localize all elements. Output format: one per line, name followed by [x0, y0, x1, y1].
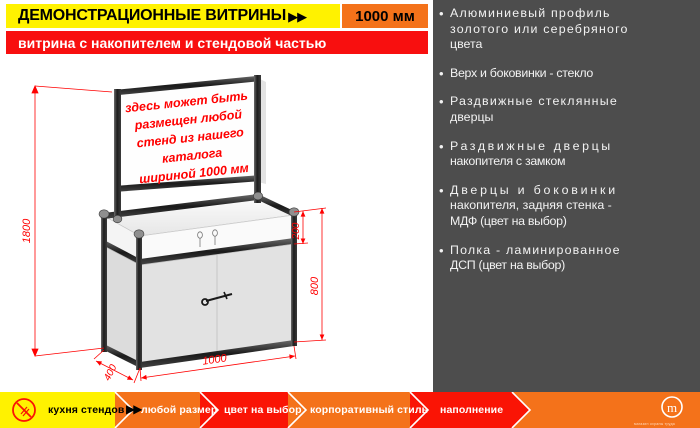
slide-root: ДЕМОНСТРАЦИОННЫЕ ВИТРИНЫ ▶▶ 1000 мм витр… [0, 0, 700, 428]
dim-width: 1000 [202, 352, 229, 367]
nav-item-4-label[interactable]: корпоративный стиль [310, 404, 428, 416]
header-title-bar: ДЕМОНСТРАЦИОННЫЕ ВИТРИНЫ ▶▶ [6, 4, 340, 28]
feature-item-4: • Раздвижные дверцы накопителя с замком [439, 139, 694, 170]
header-subtitle-bar: витрина с накопителем и стендовой частью [6, 31, 428, 54]
bullet-icon: • [439, 6, 450, 53]
nav-item-5-label[interactable]: наполнение [440, 404, 503, 416]
page-title: ДЕМОНСТРАЦИОННЫЕ ВИТРИНЫ [6, 7, 286, 25]
dim-display-height: 200 [291, 222, 302, 240]
bullet-icon: • [439, 94, 450, 125]
feature-item-5-text: Дверцы и боковинки накопителя, задняя ст… [450, 183, 694, 230]
stand-note-text: здесь может быть размещен любой стенд из… [124, 89, 256, 187]
feature-item-1: • Алюминиевый профиль золотого или сереб… [439, 6, 694, 53]
product-drawing: 1800 800 200 1000 400 здесь может быть р… [0, 56, 433, 386]
company-logo-subtitle: магазин охраны труда [634, 422, 675, 426]
bullet-icon: • [439, 139, 450, 170]
feature-item-1-text: Алюминиевый профиль золотого или серебря… [450, 6, 694, 53]
size-badge: 1000 мм [342, 4, 428, 28]
nav-item-3-label[interactable]: цвет на выбор [224, 404, 302, 416]
header-arrows-icon: ▶▶ [288, 10, 306, 23]
bullet-icon: • [439, 243, 450, 274]
dim-height-total: 1800 [21, 218, 33, 243]
bullet-icon: • [439, 183, 450, 230]
features-panel: • Алюминиевый профиль золотого или сереб… [433, 0, 700, 392]
feature-item-3-text: Раздвижные стеклянные дверцы [450, 94, 694, 125]
bottom-nav: m кухня стендов ▶▶ любой размер цвет на … [0, 392, 700, 428]
feature-item-6-text: Полка - ламинированное ДСП (цвет на выбо… [450, 243, 694, 274]
size-badge-label: 1000 мм [355, 8, 415, 25]
nav-item-2-label[interactable]: любой размер [141, 404, 217, 416]
feature-item-4-text: Раздвижные дверцы накопителя с замком [450, 139, 694, 170]
cabinet-body [104, 244, 294, 368]
feature-item-2: • Верх и боковинки - стекло [439, 66, 694, 82]
feature-item-2-text: Верх и боковинки - стекло [450, 66, 694, 82]
dim-cabinet-height: 800 [309, 276, 321, 295]
nav-arrows-icon: ▶▶ [126, 403, 140, 415]
page-subtitle: витрина с накопителем и стендовой частью [6, 35, 326, 51]
bullet-icon: • [439, 66, 450, 82]
feature-item-5: • Дверцы и боковинки накопителя, задняя … [439, 183, 694, 230]
feature-item-6: • Полка - ламинированное ДСП (цвет на вы… [439, 243, 694, 274]
feature-item-3: • Раздвижные стеклянные дверцы [439, 94, 694, 125]
nav-item-1-label[interactable]: кухня стендов [48, 404, 124, 416]
svg-text:m: m [667, 400, 677, 415]
